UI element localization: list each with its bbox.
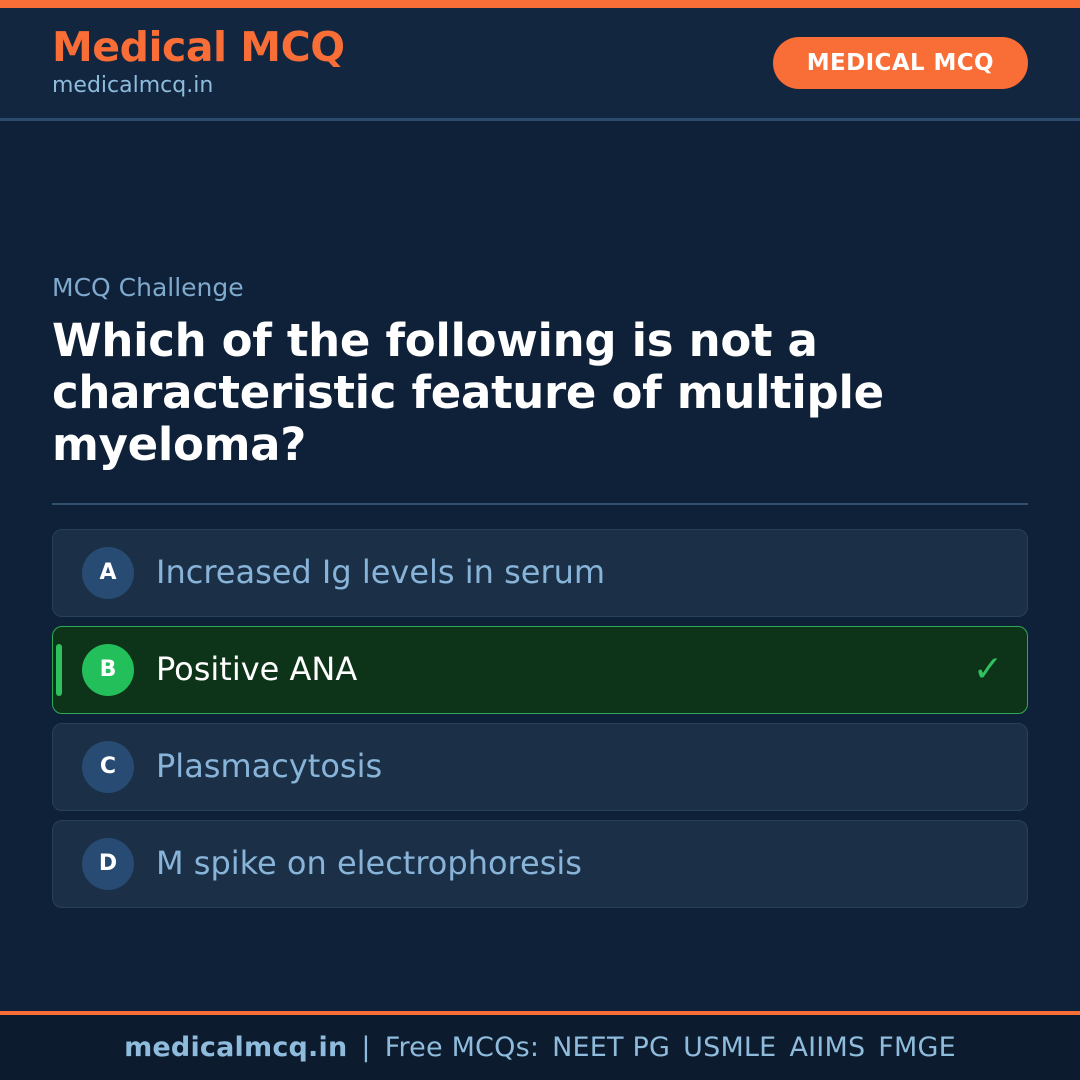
question-text: Which of the following is not a characte… (52, 315, 1028, 472)
page-header: Medical MCQ medicalmcq.in MEDICAL MCQ (0, 8, 1080, 121)
footer-exam-neet-pg[interactable]: NEET PG (539, 1032, 670, 1063)
brand-subtitle: medicalmcq.in (52, 71, 345, 101)
option-letter-badge: D (82, 838, 134, 890)
footer-prefix: Free MCQs: (385, 1032, 539, 1063)
footer-exam-aiims[interactable]: AIIMS (776, 1032, 865, 1063)
question-divider (52, 503, 1028, 505)
option-label: Positive ANA (156, 650, 957, 688)
check-icon: ✓ (973, 652, 1003, 688)
footer-exam-usmle[interactable]: USMLE (670, 1032, 776, 1063)
question-block: MCQ Challenge Which of the following is … (52, 273, 1028, 472)
option-b[interactable]: B Positive ANA ✓ (52, 626, 1028, 714)
footer-separator: | (347, 1032, 384, 1063)
header-badge[interactable]: MEDICAL MCQ (773, 37, 1028, 89)
footer-exam-fmge[interactable]: FMGE (865, 1032, 956, 1063)
option-label: Plasmacytosis (156, 747, 987, 785)
option-a[interactable]: A Increased Ig levels in serum (52, 529, 1028, 617)
footer-site-link[interactable]: medicalmcq.in (124, 1032, 347, 1063)
option-label: M spike on electrophoresis (156, 844, 987, 882)
question-eyebrow: MCQ Challenge (52, 273, 1028, 303)
option-label: Increased Ig levels in serum (156, 553, 987, 591)
brand-title: Medical MCQ (52, 26, 345, 69)
option-letter-badge: B (82, 644, 134, 696)
brand-block: Medical MCQ medicalmcq.in (52, 26, 345, 101)
options-list: A Increased Ig levels in serum B Positiv… (52, 529, 1028, 908)
option-accent-bar (56, 644, 62, 696)
option-letter-badge: C (82, 741, 134, 793)
option-d[interactable]: D M spike on electrophoresis (52, 820, 1028, 908)
page-footer: medicalmcq.in | Free MCQs: NEET PG USMLE… (0, 1011, 1080, 1080)
top-accent-bar (0, 0, 1080, 8)
option-letter-badge: A (82, 547, 134, 599)
main-content: MCQ Challenge Which of the following is … (0, 121, 1080, 1011)
option-c[interactable]: C Plasmacytosis (52, 723, 1028, 811)
